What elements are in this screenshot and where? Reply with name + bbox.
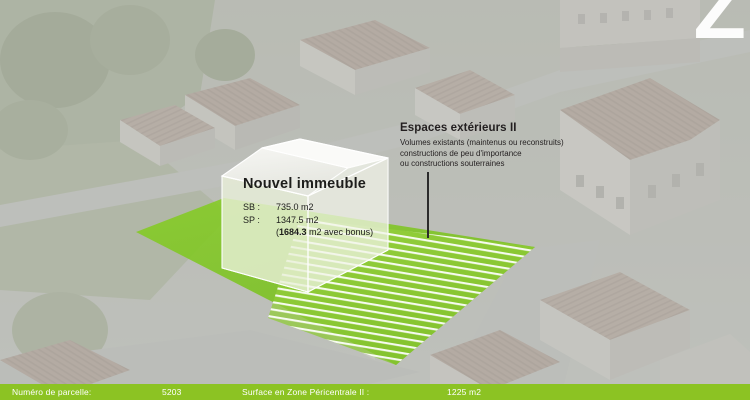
zone-surface-value: 1225 m2 xyxy=(447,387,481,397)
parcel-number-value: 5203 xyxy=(162,387,242,397)
annotation-line-1: Volumes existants (maintenus ou reconstr… xyxy=(400,138,630,149)
parcel-info-bar: Numéro de parcelle: 5203 Surface en Zone… xyxy=(0,384,750,400)
corner-logo-watermark: Z xyxy=(693,0,744,52)
annotation-line-2: constructions de peu d'importance xyxy=(400,149,630,160)
parcel-svg xyxy=(0,0,750,400)
parcel-visualization: Z Nouvel immeuble SB : 735.0 m2 SP : 134… xyxy=(0,0,750,400)
annotation-line-3: ou constructions souterraines xyxy=(400,159,630,170)
parcel-number-label: Numéro de parcelle: xyxy=(0,387,162,397)
parcel-geometry-layer xyxy=(0,0,750,400)
zone-surface-label: Surface en Zone Péricentrale II : xyxy=(242,387,447,397)
annotation-title: Espaces extérieurs II xyxy=(400,122,630,134)
exterior-spaces-annotation: Espaces extérieurs II Volumes existants … xyxy=(400,122,630,170)
annotation-leader-line xyxy=(427,172,429,238)
